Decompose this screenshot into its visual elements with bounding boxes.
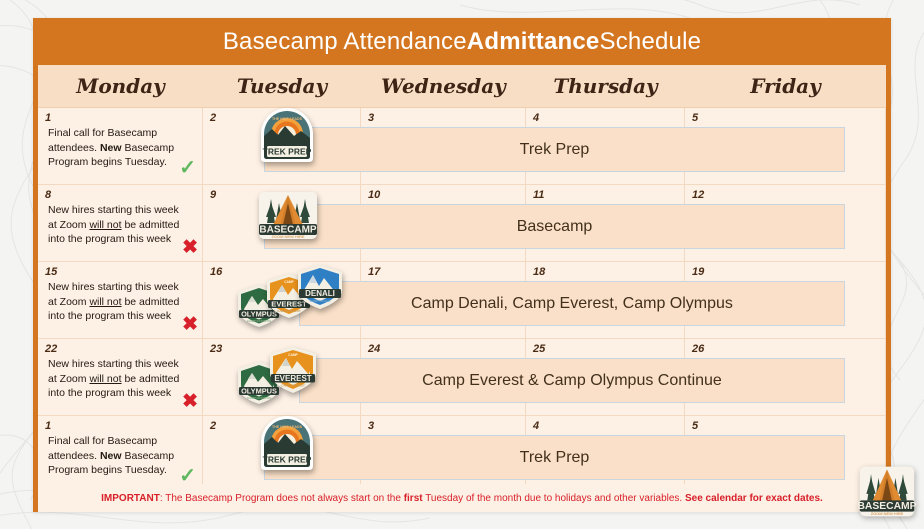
- svg-text:CAMP DENALI: CAMP DENALI: [310, 299, 331, 303]
- event-bar-two-camps[interactable]: Camp Everest & Camp Olympus Continue: [299, 358, 845, 403]
- day-number: 24: [368, 343, 380, 355]
- day-number: 26: [692, 343, 704, 355]
- footer-important: IMPORTANT: [101, 493, 160, 504]
- svg-text:ZOOM NEW HIRE: ZOOM NEW HIRE: [271, 234, 304, 239]
- note-line-3: Program begins Tuesday.: [48, 464, 167, 476]
- note-line-2-post: Basecamp: [122, 142, 175, 154]
- day-cell-2-mon[interactable]: 8 New hires starting this week at Zoom w…: [38, 185, 203, 261]
- day-number: 1: [45, 112, 51, 124]
- day-number: 11: [533, 189, 544, 201]
- day-cell-1-mon[interactable]: 1 Final call for Basecamp attendees. New…: [38, 108, 203, 184]
- note-line-3: Program begins Tuesday.: [48, 156, 167, 168]
- day-number: 18: [533, 266, 545, 278]
- trek-prep-badge-icon: TREK PREP THE HIKE LEADS: [255, 104, 319, 166]
- day-number: 9: [210, 189, 216, 201]
- note-line-2-pre: at Zoom: [48, 373, 89, 385]
- footer-text-pre: : The Basecamp Program does not always s…: [160, 493, 404, 504]
- week-row-2: 8 New hires starting this week at Zoom w…: [38, 185, 886, 262]
- note-line-1: New hires starting this week: [48, 281, 179, 293]
- footer-text-post: Tuesday of the month due to holidays and…: [423, 493, 685, 504]
- cross-icon: ✖: [182, 315, 198, 334]
- svg-text:CAMP: CAMP: [288, 353, 298, 357]
- cross-icon: ✖: [182, 238, 198, 257]
- dow-wednesday: Wednesday: [361, 65, 526, 107]
- day-number: 10: [368, 189, 380, 201]
- cross-icon: ✖: [182, 392, 198, 411]
- day-note: New hires starting this week at Zoom wil…: [48, 357, 196, 401]
- day-cell-3-mon[interactable]: 15 New hires starting this week at Zoom …: [38, 262, 203, 338]
- event-bar-trek-prep-1[interactable]: Trek Prep: [264, 127, 845, 172]
- week-row-1: 1 Final call for Basecamp attendees. New…: [38, 108, 886, 185]
- note-line-1: New hires starting this week: [48, 204, 179, 216]
- note-line-2-underline: will not: [89, 219, 121, 231]
- week-row-5: 1 Final call for Basecamp attendees. New…: [38, 416, 886, 492]
- day-number: 15: [45, 266, 57, 278]
- note-line-2-post: be admitted: [122, 296, 180, 308]
- day-number: 2: [210, 112, 216, 124]
- svg-text:THE HIKE LEADS: THE HIKE LEADS: [272, 425, 303, 429]
- day-cell-4-mon[interactable]: 22 New hires starting this week at Zoom …: [38, 339, 203, 415]
- svg-text:CAMP EVEREST: CAMP EVEREST: [281, 384, 305, 388]
- note-line-2-underline: will not: [89, 296, 121, 308]
- footer-bold-end: See calendar for exact dates.: [685, 493, 823, 504]
- check-icon: ✓: [179, 158, 196, 178]
- title-part-1: Basecamp Attendance: [223, 28, 467, 56]
- day-number: 16: [210, 266, 222, 278]
- note-line-2-post: be admitted: [122, 373, 180, 385]
- denali-badge-icon: DENALI CAMP DENALI: [294, 263, 346, 311]
- check-icon: ✓: [179, 466, 196, 486]
- footer-bold-first: first: [404, 493, 423, 504]
- note-line-3: into the program this week: [48, 387, 171, 399]
- svg-text:CAMP OLYMPUS: CAMP OLYMPUS: [247, 396, 271, 400]
- dow-friday: Friday: [685, 65, 886, 107]
- everest-badge-icon: EVEREST CAMP EVEREST CAMP: [266, 345, 320, 395]
- day-number: 2: [210, 420, 216, 432]
- dow-tuesday: Tuesday: [203, 65, 361, 107]
- calendar-title-bar: Basecamp Attendance Admittance Schedule: [38, 18, 886, 65]
- svg-text:THE HIKE LEADS: THE HIKE LEADS: [272, 117, 303, 121]
- dow-thursday: Thursday: [526, 65, 685, 107]
- note-line-3: into the program this week: [48, 310, 171, 322]
- day-number: 1: [45, 420, 51, 432]
- note-line-2-post: Basecamp: [122, 450, 175, 462]
- svg-text:DENALI: DENALI: [305, 289, 335, 298]
- day-note: New hires starting this week at Zoom wil…: [48, 203, 196, 247]
- note-line-2-bold: New: [100, 142, 122, 154]
- day-note: Final call for Basecamp attendees. New B…: [48, 434, 196, 478]
- day-number: 3: [368, 112, 374, 124]
- day-number: 4: [533, 420, 539, 432]
- note-line-2-pre: at Zoom: [48, 296, 89, 308]
- svg-text:TREK PREP: TREK PREP: [263, 454, 312, 464]
- event-bar-basecamp[interactable]: Basecamp: [264, 204, 845, 249]
- day-number: 19: [692, 266, 704, 278]
- note-line-1: Final call for Basecamp: [48, 435, 157, 447]
- dow-monday: Monday: [38, 65, 203, 107]
- note-line-2-post: be admitted: [122, 219, 180, 231]
- basecamp-logo-icon: BASECAMP ZOOM NEW HIRE: [856, 457, 918, 525]
- title-bold: Admittance: [467, 28, 600, 56]
- day-number: 5: [692, 112, 698, 124]
- svg-text:EVEREST: EVEREST: [274, 374, 311, 383]
- title-part-2: Schedule: [599, 28, 701, 56]
- calendar-card: Basecamp Attendance Admittance Schedule …: [33, 18, 891, 512]
- note-line-2-pre: attendees.: [48, 450, 100, 462]
- day-number: 3: [368, 420, 374, 432]
- note-line-2-pre: at Zoom: [48, 219, 89, 231]
- note-line-2-pre: attendees.: [48, 142, 100, 154]
- note-line-1: New hires starting this week: [48, 358, 179, 370]
- day-number: 23: [210, 343, 222, 355]
- event-bar-three-camps[interactable]: Camp Denali, Camp Everest, Camp Olympus: [299, 281, 845, 326]
- week-row-3: 15 New hires starting this week at Zoom …: [38, 262, 886, 339]
- day-cell-5-mon[interactable]: 1 Final call for Basecamp attendees. New…: [38, 416, 203, 492]
- day-number: 12: [692, 189, 704, 201]
- day-number: 22: [45, 343, 57, 355]
- basecamp-badge-icon: BASECAMP ZOOM NEW HIRE: [255, 183, 321, 245]
- note-line-2-bold: New: [100, 450, 122, 462]
- week-row-4: 22 New hires starting this week at Zoom …: [38, 339, 886, 416]
- footer-note: IMPORTANT: The Basecamp Program does not…: [38, 484, 886, 512]
- event-bar-trek-prep-2[interactable]: Trek Prep: [264, 435, 845, 480]
- day-number: 17: [368, 266, 380, 278]
- day-of-week-header: Monday Tuesday Wednesday Thursday Friday: [38, 65, 886, 108]
- day-number: 4: [533, 112, 539, 124]
- calendar-weeks: 1 Final call for Basecamp attendees. New…: [38, 108, 886, 492]
- day-number: 25: [533, 343, 545, 355]
- svg-text:ZOOM NEW HIRE: ZOOM NEW HIRE: [871, 511, 904, 516]
- note-line-2-underline: will not: [89, 373, 121, 385]
- day-number: 8: [45, 189, 51, 201]
- day-note: New hires starting this week at Zoom wil…: [48, 280, 196, 324]
- day-number: 5: [692, 420, 698, 432]
- day-note: Final call for Basecamp attendees. New B…: [48, 126, 196, 170]
- svg-text:TREK PREP: TREK PREP: [263, 146, 312, 156]
- note-line-3: into the program this week: [48, 233, 171, 245]
- note-line-1: Final call for Basecamp: [48, 127, 157, 139]
- trek-prep-badge-icon: TREK PREP THE HIKE LEADS: [255, 412, 319, 474]
